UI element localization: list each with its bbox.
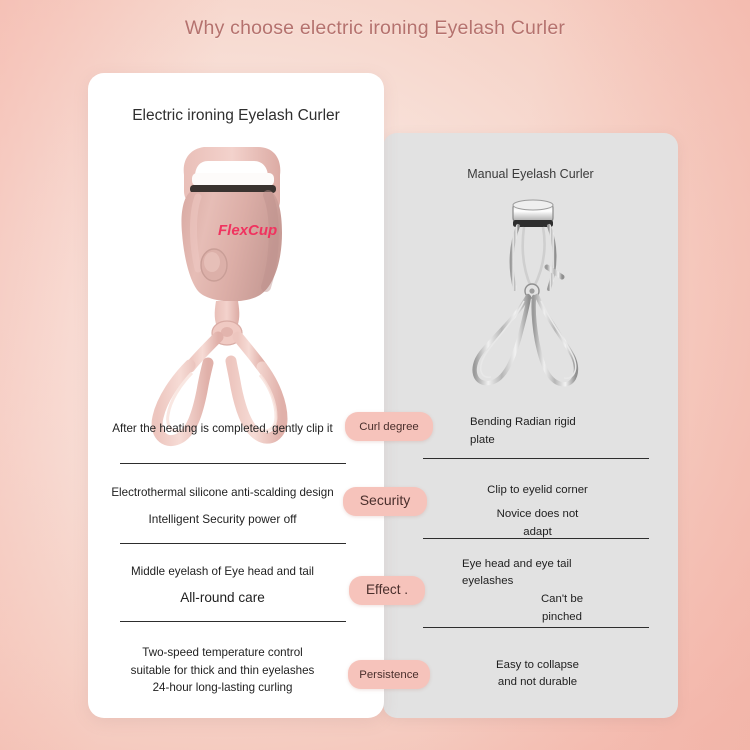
manual-eyelash-curler-icon — [461, 193, 601, 398]
manual-card-heading: Manual Eyelash Curler — [383, 167, 678, 181]
row-2-right-main: Clip to eyelid corner — [487, 484, 588, 496]
row-4-right-sub: and not durable — [425, 674, 650, 691]
row-3-right-main: Eye head and eye tail — [462, 558, 572, 570]
row-3-badge[interactable]: Effect . — [349, 576, 425, 605]
row-4-left-line1: Two-speed temperature control — [142, 646, 302, 659]
page-title: Why choose electric ironing Eyelash Curl… — [0, 17, 750, 40]
row-3-left-line1: Middle eyelash of Eye head and tail — [131, 565, 314, 578]
row-3-right-text: Eye head and eye tail eyelashes Can't be… — [462, 556, 662, 626]
row-2-badge-label: Security — [360, 492, 411, 508]
brand-label: FlexCup — [218, 222, 277, 239]
row-2-right-divider — [423, 538, 649, 539]
row-3-badge-label: Effect . — [366, 582, 408, 597]
row-1-left-text: After the heating is completed, gently c… — [100, 420, 345, 438]
row-4-badge-label: Persistence — [359, 669, 419, 681]
row-4-right-main: Easy to collapse — [496, 659, 579, 671]
row-4-left-line2: suitable for thick and thin eyelashes — [100, 662, 345, 680]
row-3-right-sub2: Can't be — [462, 591, 662, 608]
row-1-badge[interactable]: Curl degree — [345, 412, 433, 441]
row-3-right-sub3: pinched — [462, 609, 662, 626]
row-2-left-text: Electrothermal silicone anti-scalding de… — [100, 484, 345, 529]
row-4-badge[interactable]: Persistence — [348, 660, 430, 689]
row-3-right-sub1: eyelashes — [462, 573, 662, 590]
row-2-badge[interactable]: Security — [343, 487, 427, 516]
row-3-left-divider — [120, 621, 346, 622]
row-2-right-text: Clip to eyelid corner Novice does not ad… — [425, 482, 650, 541]
row-2-right-sub1: Novice does not — [425, 506, 650, 523]
row-1-right-text: Bending Radian rigid plate — [470, 414, 660, 449]
row-2-left-line1: Electrothermal silicone anti-scalding de… — [111, 486, 333, 499]
row-4-left-text: Two-speed temperature control suitable f… — [100, 644, 345, 697]
row-1-left-divider — [120, 463, 346, 464]
row-1-right-divider — [423, 458, 649, 459]
row-1-right-sub: plate — [470, 432, 660, 449]
row-2-left-divider — [120, 543, 346, 544]
row-4-right-text: Easy to collapse and not durable — [425, 657, 650, 691]
row-2-left-line2: Intelligent Security power off — [100, 511, 345, 529]
row-3-left-line2: All-round care — [100, 588, 345, 609]
row-3-left-text: Middle eyelash of Eye head and tail All-… — [100, 563, 345, 608]
row-1-badge-label: Curl degree — [359, 421, 419, 433]
electric-eyelash-curler-icon: FlexCup — [132, 135, 322, 455]
row-3-right-divider — [423, 627, 649, 628]
row-4-left-line3: 24-hour long-lasting curling — [100, 679, 345, 697]
infographic-canvas: Why choose electric ironing Eyelash Curl… — [0, 0, 750, 750]
row-1-right-main: Bending Radian rigid — [470, 416, 576, 428]
electric-card-heading: Electric ironing Eyelash Curler — [88, 107, 384, 125]
